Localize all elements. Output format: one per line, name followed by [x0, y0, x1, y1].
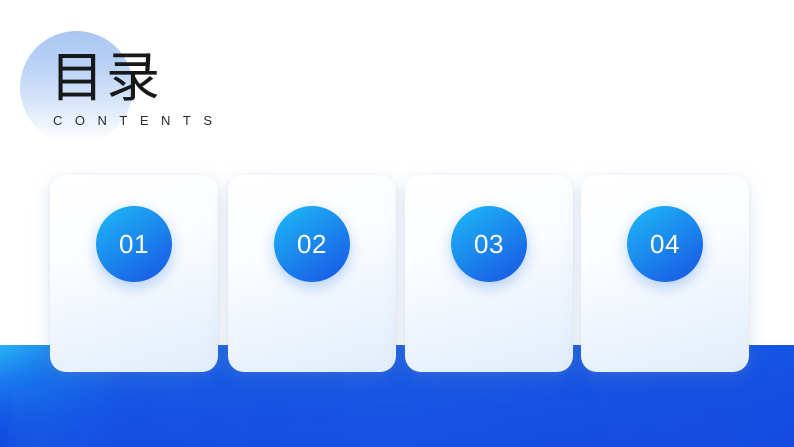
badge-02[interactable]: 02 [274, 206, 350, 282]
content-card-03[interactable]: 03 [405, 175, 573, 372]
content-card-01[interactable]: 01 [50, 175, 218, 372]
title-english: CONTENTS [53, 113, 225, 129]
badge-number-04: 04 [650, 231, 680, 257]
badge-03[interactable]: 03 [451, 206, 527, 282]
slide-canvas: 目录 CONTENTS 01 [0, 0, 794, 447]
badge-01[interactable]: 01 [96, 206, 172, 282]
page-title: 目录 CONTENTS [50, 48, 225, 129]
badge-number-03: 03 [474, 231, 504, 257]
badge-number-02: 02 [297, 231, 327, 257]
content-card-04[interactable]: 04 [581, 175, 749, 372]
badge-04[interactable]: 04 [627, 206, 703, 282]
title-chinese: 目录 [50, 48, 225, 108]
badge-number-01: 01 [119, 231, 149, 257]
content-card-02[interactable]: 02 [228, 175, 396, 372]
